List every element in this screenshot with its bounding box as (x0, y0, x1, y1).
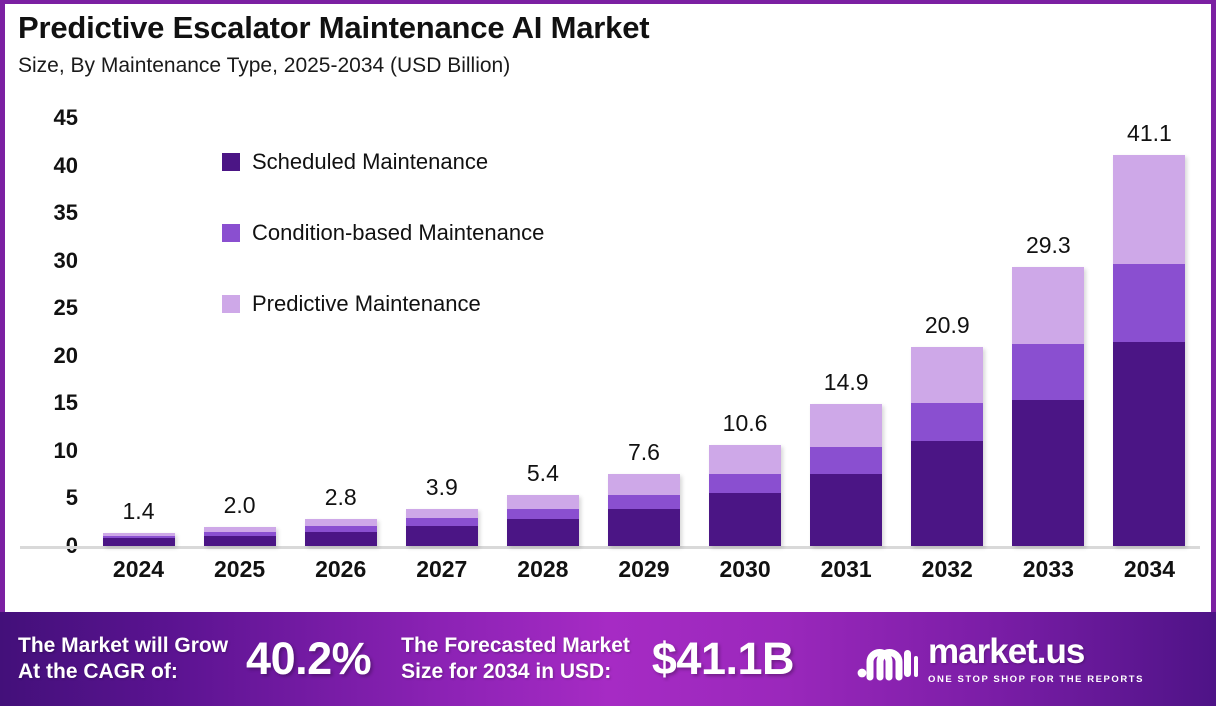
bar-segment (608, 509, 680, 546)
bar-group[interactable]: 3.9 (391, 118, 492, 546)
bar-segment (911, 403, 983, 441)
x-axis-tick: 2025 (189, 556, 290, 583)
bar-total-label: 2.0 (224, 492, 256, 519)
stacked-bar[interactable] (103, 533, 175, 546)
x-axis: 2024202520262027202820292030203120322033… (88, 556, 1200, 583)
bar-segment (305, 532, 377, 546)
x-axis-tick: 2027 (391, 556, 492, 583)
bar-total-label: 2.8 (325, 484, 357, 511)
bar-group[interactable]: 5.4 (492, 118, 593, 546)
x-axis-tick: 2024 (88, 556, 189, 583)
bar-segment (709, 474, 781, 493)
stacked-bar[interactable] (810, 404, 882, 546)
page-title: Predictive Escalator Maintenance AI Mark… (18, 10, 1118, 47)
x-axis-tick: 2030 (695, 556, 796, 583)
forecast-caption: The Forecasted Market Size for 2034 in U… (401, 633, 630, 686)
bar-segment (810, 447, 882, 474)
brand-name: market.us (928, 634, 1144, 669)
x-axis-tick: 2034 (1099, 556, 1200, 583)
stacked-bar[interactable] (911, 347, 983, 546)
x-axis-tick: 2031 (796, 556, 897, 583)
bar-segment (1012, 267, 1084, 344)
y-axis-tick: 20 (54, 343, 78, 369)
stacked-bar[interactable] (305, 519, 377, 546)
bar-segment (305, 519, 377, 526)
stacked-bar[interactable] (204, 527, 276, 546)
bar-total-label: 1.4 (123, 498, 155, 525)
bar-segment (1113, 342, 1185, 546)
y-axis-tick: 30 (54, 248, 78, 274)
cagr-caption: The Market will Grow At the CAGR of: (18, 633, 228, 686)
bar-segment (1113, 264, 1185, 342)
title-block: Predictive Escalator Maintenance AI Mark… (18, 10, 1118, 78)
bar-total-label: 20.9 (925, 312, 970, 339)
chart-infographic: Predictive Escalator Maintenance AI Mark… (0, 0, 1216, 706)
y-axis-tick: 45 (54, 105, 78, 131)
bar-segment (406, 518, 478, 526)
bar-segment (1113, 155, 1185, 263)
bar-total-label: 7.6 (628, 439, 660, 466)
stacked-bar[interactable] (507, 495, 579, 546)
stacked-bar[interactable] (406, 509, 478, 546)
stacked-bar[interactable] (1113, 155, 1185, 546)
bar-total-label: 41.1 (1127, 120, 1172, 147)
bar-segment (911, 347, 983, 403)
bar-total-label: 5.4 (527, 460, 559, 487)
y-axis-tick: 40 (54, 153, 78, 179)
page-subtitle: Size, By Maintenance Type, 2025-2034 (US… (18, 53, 1118, 78)
bar-segment (911, 441, 983, 546)
stacked-bar[interactable] (608, 474, 680, 546)
y-axis-tick: 5 (66, 485, 78, 511)
footer-banner: The Market will Grow At the CAGR of: 40.… (0, 612, 1216, 706)
bar-segment (406, 509, 478, 519)
bar-total-label: 14.9 (824, 369, 869, 396)
forecast-caption-line1: The Forecasted Market (401, 633, 630, 659)
bar-segment (507, 519, 579, 546)
forecast-value: $41.1B (652, 633, 794, 685)
stacked-bar[interactable] (1012, 267, 1084, 546)
bar-segment (507, 495, 579, 509)
bar-segment (709, 493, 781, 546)
bar-segment (103, 538, 175, 546)
x-axis-baseline (20, 546, 1200, 549)
cagr-block: The Market will Grow At the CAGR of: 40.… (18, 633, 371, 686)
bar-segment (608, 474, 680, 495)
x-axis-tick: 2032 (897, 556, 998, 583)
bar-segment (1012, 400, 1084, 546)
cagr-caption-line2: At the CAGR of: (18, 659, 228, 685)
cagr-caption-line1: The Market will Grow (18, 633, 228, 659)
x-axis-tick: 2026 (290, 556, 391, 583)
cagr-value: 40.2% (246, 633, 371, 685)
bar-segment (608, 495, 680, 509)
x-axis-tick: 2028 (492, 556, 593, 583)
bar-total-label: 29.3 (1026, 232, 1071, 259)
x-axis-tick: 2033 (998, 556, 1099, 583)
y-axis-tick: 10 (54, 438, 78, 464)
bar-segment (204, 536, 276, 546)
stacked-bar[interactable] (709, 445, 781, 546)
brand-tagline: ONE STOP SHOP FOR THE REPORTS (928, 674, 1144, 685)
bar-group[interactable]: 41.1 (1099, 118, 1200, 546)
y-axis: 051015202530354045 (20, 118, 78, 546)
bar-total-label: 3.9 (426, 474, 458, 501)
bar-segment (406, 526, 478, 546)
bar-segment (810, 404, 882, 447)
brand-text: market.us ONE STOP SHOP FOR THE REPORTS (928, 634, 1144, 685)
brand-logo[interactable]: market.us ONE STOP SHOP FOR THE REPORTS (856, 634, 1144, 685)
bars-area: 1.42.02.83.95.47.610.614.920.929.341.1 (88, 118, 1200, 546)
bar-segment (810, 474, 882, 546)
y-axis-tick: 35 (54, 200, 78, 226)
bar-group[interactable]: 14.9 (796, 118, 897, 546)
forecast-block: The Forecasted Market Size for 2034 in U… (401, 633, 794, 686)
bar-segment (507, 509, 579, 519)
bar-group[interactable]: 10.6 (695, 118, 796, 546)
bar-group[interactable]: 2.0 (189, 118, 290, 546)
bar-group[interactable]: 2.8 (290, 118, 391, 546)
y-axis-tick: 15 (54, 390, 78, 416)
bar-segment (709, 445, 781, 474)
forecast-caption-line2: Size for 2034 in USD: (401, 659, 630, 685)
market-us-logo-icon (856, 636, 918, 682)
bar-group[interactable]: 7.6 (593, 118, 694, 546)
bar-group[interactable]: 20.9 (897, 118, 998, 546)
x-axis-tick: 2029 (593, 556, 694, 583)
y-axis-tick: 25 (54, 295, 78, 321)
bar-total-label: 10.6 (723, 410, 768, 437)
bar-group[interactable]: 1.4 (88, 118, 189, 546)
bar-segment (1012, 344, 1084, 400)
bar-group[interactable]: 29.3 (998, 118, 1099, 546)
